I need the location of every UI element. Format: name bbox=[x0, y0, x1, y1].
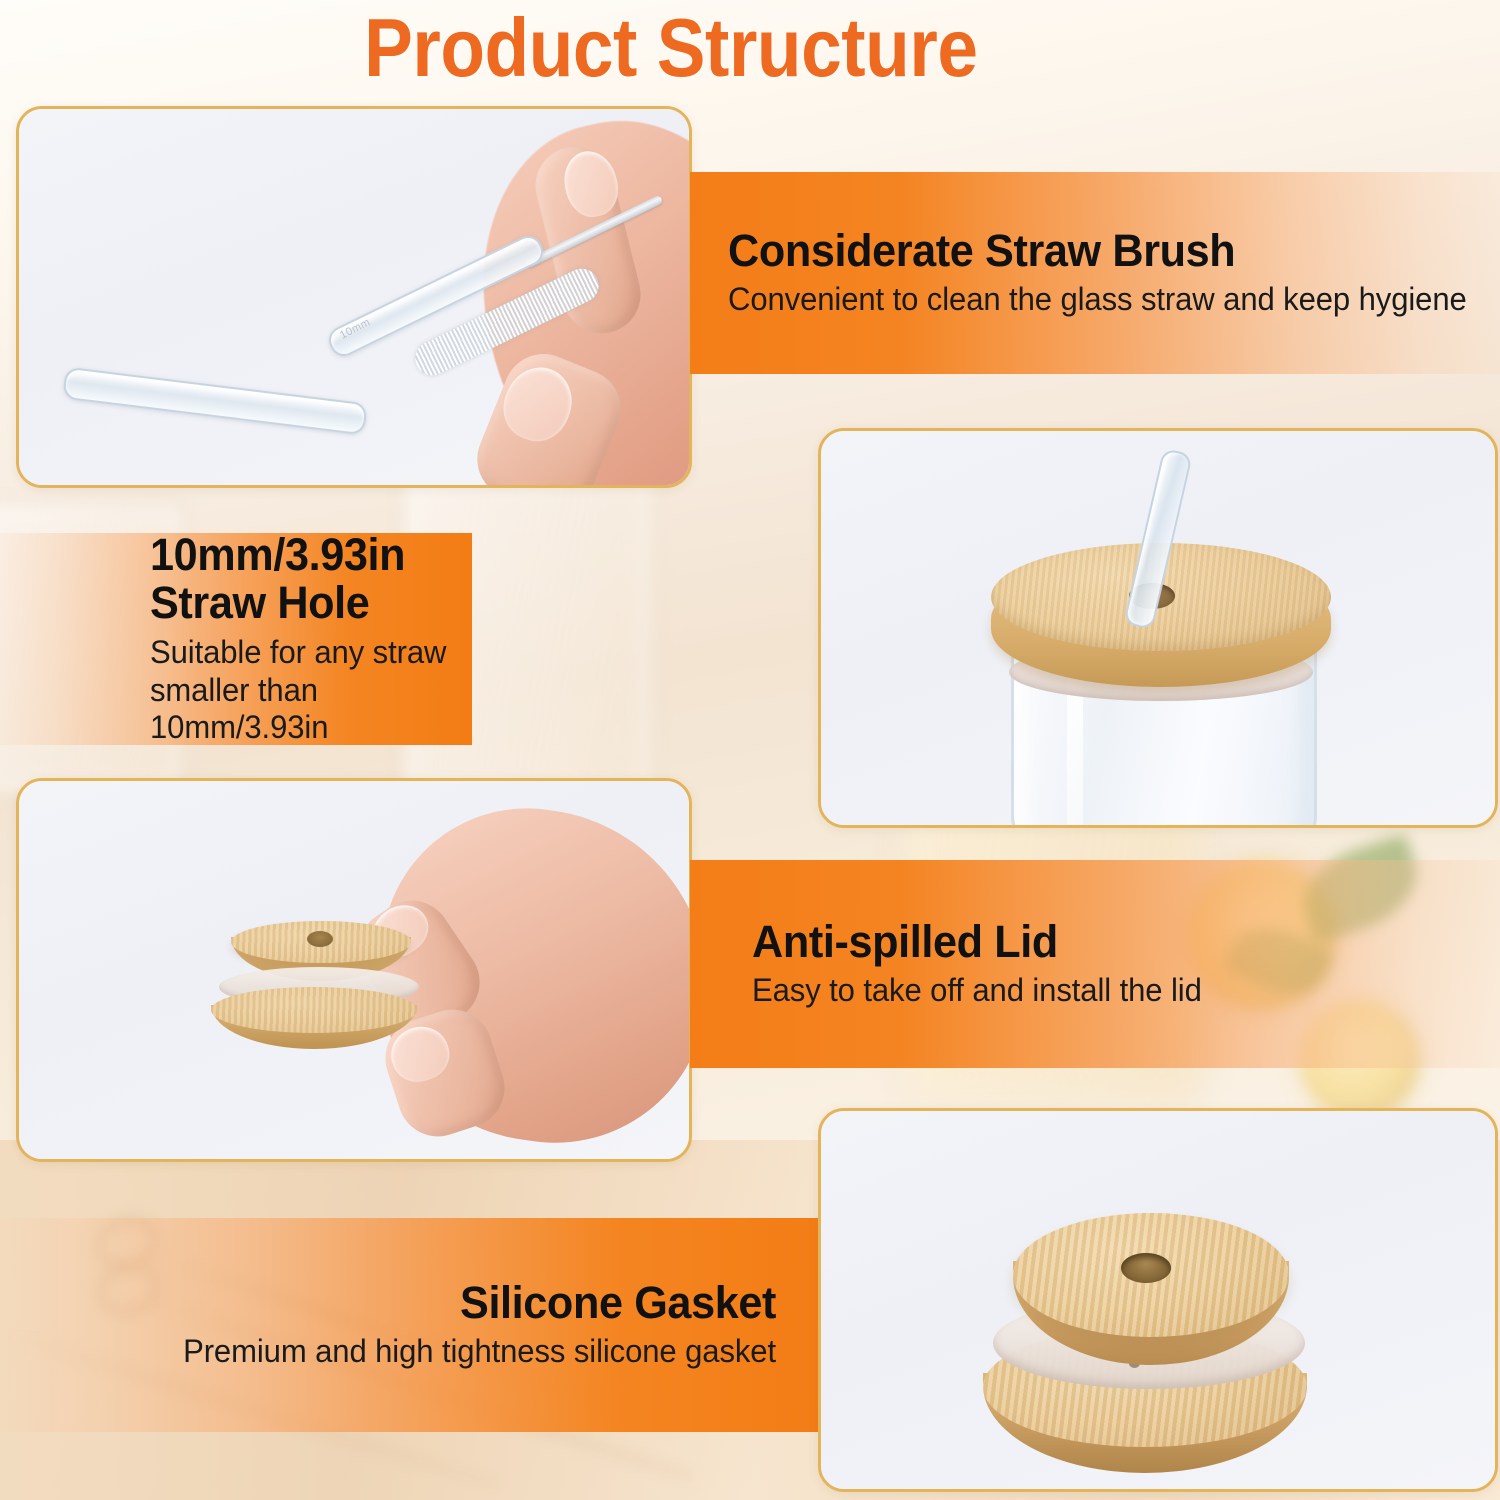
feature-subtitle: Easy to take off and install the lid bbox=[752, 972, 1478, 1010]
feature-photo-card-anti-spilled-lid bbox=[16, 778, 692, 1162]
hand-holding-straw-brush-photo: 10mm bbox=[19, 109, 689, 485]
feature-title: Considerate Straw Brush bbox=[728, 227, 1469, 276]
feature-caption-silicone-gasket: Silicone Gasket Premium and high tightne… bbox=[0, 1218, 832, 1432]
feature-photo-card-straw-hole bbox=[818, 428, 1498, 828]
feature-caption-straw-brush: Considerate Straw Brush Convenient to cl… bbox=[690, 172, 1500, 374]
glass-straw bbox=[62, 367, 368, 436]
page-title: Product Structure bbox=[90, 6, 1410, 91]
glass-jar-bamboo-lid-with-straw-photo bbox=[821, 431, 1495, 825]
feature-subtitle: Premium and high tightness silicone gask… bbox=[23, 1333, 776, 1371]
feature-caption-straw-hole: 10mm/3.93in Straw Hole Suitable for any … bbox=[0, 533, 472, 745]
feature-subtitle: Convenient to clean the glass straw and … bbox=[728, 281, 1477, 319]
feature-caption-anti-spilled-lid: Anti-spilled Lid Easy to take off and in… bbox=[690, 860, 1500, 1068]
product-structure-infographic: Product Structure 10mm Considerate Straw… bbox=[0, 0, 1500, 1500]
stacked-bamboo-lids-with-gasket-photo bbox=[821, 1111, 1495, 1489]
straw-hole bbox=[1121, 1253, 1171, 1283]
feature-title: 10mm/3.93in Straw Hole bbox=[150, 531, 459, 628]
feature-subtitle: Suitable for any straw smaller than 10mm… bbox=[150, 634, 462, 747]
feature-title: Silicone Gasket bbox=[31, 1279, 776, 1328]
feature-title: Anti-spilled Lid bbox=[752, 918, 1470, 967]
bamboo-lid-bottom bbox=[211, 987, 417, 1033]
feature-photo-card-straw-brush: 10mm bbox=[16, 106, 692, 488]
hand-holding-bamboo-lid-photo bbox=[19, 781, 689, 1159]
feature-photo-card-silicone-gasket bbox=[818, 1108, 1498, 1492]
straw-hole bbox=[307, 931, 333, 947]
